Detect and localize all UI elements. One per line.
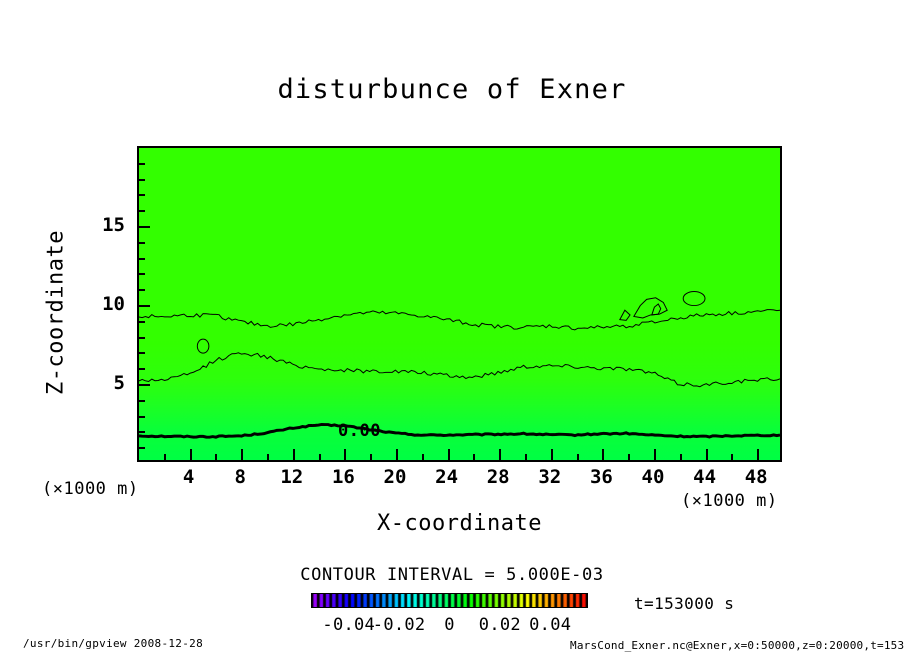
- x-axis-tick-label: 28: [468, 466, 528, 488]
- y-axis-tick-label: 15: [79, 214, 125, 236]
- y-axis-tick: [139, 416, 145, 418]
- x-axis-tick: [241, 449, 243, 460]
- contour-line: [139, 424, 780, 437]
- contour-detail: [652, 304, 661, 315]
- x-axis-tick-label: 48: [726, 466, 786, 488]
- x-axis-tick: [215, 454, 217, 460]
- x-axis-tick-label: 40: [623, 466, 683, 488]
- x-axis-tick: [422, 454, 424, 460]
- contour-line: [139, 353, 780, 387]
- y-axis-tick: [139, 258, 145, 260]
- x-axis-tick: [293, 449, 295, 460]
- x-axis-tick-label: 36: [571, 466, 631, 488]
- time-label: t=153000 s: [634, 594, 734, 613]
- y-axis-tick: [139, 431, 145, 433]
- y-axis-tick: [139, 305, 150, 307]
- y-axis-tick: [139, 210, 145, 212]
- x-axis-tick-label: 44: [675, 466, 735, 488]
- x-axis-tick-label: 32: [520, 466, 580, 488]
- closed-contour: [683, 292, 705, 306]
- contour-interval-text: CONTOUR INTERVAL = 5.000E-03: [0, 565, 904, 585]
- x-axis-tick: [680, 454, 682, 460]
- x-units-right: (×1000 m): [681, 491, 778, 511]
- y-axis-tick-label: 10: [79, 293, 125, 315]
- y-axis-tick: [139, 163, 145, 165]
- x-axis-tick: [164, 454, 166, 460]
- x-axis-tick: [473, 454, 475, 460]
- contour-label-zero: 0.00: [338, 421, 381, 441]
- footer-command-text: /usr/bin/gpview 2008-12-28: [23, 637, 203, 650]
- x-axis-tick: [757, 449, 759, 460]
- x-axis-tick: [190, 449, 192, 460]
- x-axis-tick: [370, 454, 372, 460]
- y-axis-tick: [139, 194, 145, 196]
- x-axis-tick: [706, 449, 708, 460]
- x-axis-tick: [499, 449, 501, 460]
- x-axis-tick: [551, 449, 553, 460]
- colorbar-tick-labels: -0.04-0.0200.020.04: [300, 615, 600, 637]
- y-axis-tick: [139, 337, 145, 339]
- contour-detail: [634, 298, 667, 318]
- closed-contour: [197, 339, 209, 353]
- y-axis-tick: [139, 384, 150, 386]
- colorbar: [311, 593, 588, 608]
- x-axis-tick: [267, 454, 269, 460]
- x-axis-tick: [602, 449, 604, 460]
- page-title: disturbunce of Exner: [0, 74, 904, 105]
- colorbar-tick-label: 0.04: [520, 615, 580, 635]
- x-axis-tick: [654, 449, 656, 460]
- contour-lines-overlay: [139, 148, 780, 460]
- plot-area: [137, 146, 782, 462]
- x-axis-tick: [525, 454, 527, 460]
- x-axis-tick: [448, 449, 450, 460]
- y-axis-tick: [139, 179, 145, 181]
- x-axis-tick-label: 4: [159, 466, 219, 488]
- y-axis-tick: [139, 226, 150, 228]
- y-axis-tick: [139, 289, 145, 291]
- contour-line: [139, 310, 780, 330]
- x-units-left: (×1000 m): [42, 479, 139, 499]
- x-axis-tick-label: 20: [365, 466, 425, 488]
- x-axis-tick: [628, 454, 630, 460]
- x-axis-tick-label: 16: [313, 466, 373, 488]
- colorbar-canvas: [312, 594, 587, 607]
- x-axis-tick: [319, 454, 321, 460]
- x-axis-tick-label: 8: [210, 466, 270, 488]
- y-axis-tick: [139, 447, 145, 449]
- y-axis-tick: [139, 400, 145, 402]
- y-axis-tick-label: 5: [79, 372, 125, 394]
- y-axis-tick: [139, 242, 145, 244]
- y-axis-tick: [139, 352, 145, 354]
- x-axis-tick: [396, 449, 398, 460]
- y-axis-title: Z-coordinate: [44, 203, 69, 423]
- x-axis-tick: [731, 454, 733, 460]
- x-axis-tick: [344, 449, 346, 460]
- x-axis-tick: [577, 454, 579, 460]
- x-axis-tick-label: 24: [417, 466, 477, 488]
- y-axis-tick: [139, 321, 145, 323]
- y-axis-tick: [139, 273, 145, 275]
- contour-detail: [620, 310, 630, 320]
- x-axis-title: X-coordinate: [137, 511, 782, 536]
- y-axis-tick: [139, 368, 145, 370]
- x-axis-tick-label: 12: [262, 466, 322, 488]
- footer-dataset-text: MarsCond_Exner.nc@Exner,x=0:50000,z=0:20…: [570, 639, 904, 652]
